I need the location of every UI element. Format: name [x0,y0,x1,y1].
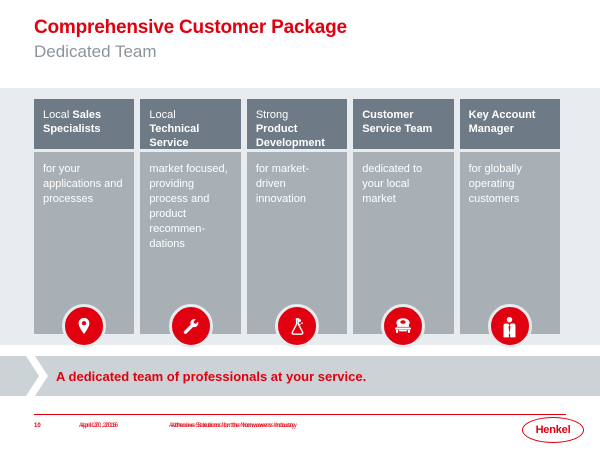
henkel-wordmark: Henkel [522,417,584,443]
footer-date-overlap: April 20, 2016 [81,422,118,430]
card-header-light: Local [43,109,69,121]
henkel-logo: Henkel [522,417,584,443]
card-header: Key Account Manager [460,99,560,149]
telephone-icon [381,304,425,348]
page-title: Comprehensive Customer Package [34,16,347,39]
cards-band: Local Sales Specialists for your applica… [0,88,600,345]
card-header-bold: Key Account Manager [469,109,536,135]
card-local-technical-service-experts[interactable]: Local Technical Service Experts market f… [140,99,240,334]
card-header: Local Sales Specialists [34,99,134,149]
card-header: Strong Product Development [247,99,347,149]
card-local-sales-specialists[interactable]: Local Sales Specialists for your applica… [34,99,134,334]
card-header-light: Strong [256,109,288,121]
title-block: Comprehensive Customer Package Dedicated… [34,16,347,63]
cards-row: Local Sales Specialists for your applica… [34,99,560,334]
card-header-light: Local [149,109,175,121]
footer: 10 April 20, 2016 April 20, 2016 Adhesiv… [34,420,566,436]
location-pin-icon [62,304,106,348]
footer-divider [34,414,566,415]
flask-icon [275,304,319,348]
chevron-notch-icon [26,356,48,396]
card-strong-product-development[interactable]: Strong Product Development for market-dr… [247,99,347,334]
statement-banner: A dedicated team of professionals at you… [0,356,600,396]
card-header: Local Technical Service Experts [140,99,240,149]
card-customer-service-team[interactable]: Customer Service Team dedicated to your … [353,99,453,334]
card-header-bold: Customer Service Team [362,109,432,135]
page-subtitle: Dedicated Team [34,41,347,63]
businessperson-icon [488,304,532,348]
footer-subject-overlap: Adhesive Solutions for the Nonwovens Ind… [171,422,297,430]
card-key-account-manager[interactable]: Key Account Manager for globally operati… [460,99,560,334]
card-header: Customer Service Team [353,99,453,149]
wrench-icon [169,304,213,348]
card-header-bold: Product Development [256,123,325,149]
footer-page-number: 10 [34,422,41,430]
statement-text: A dedicated team of professionals at you… [56,356,366,396]
